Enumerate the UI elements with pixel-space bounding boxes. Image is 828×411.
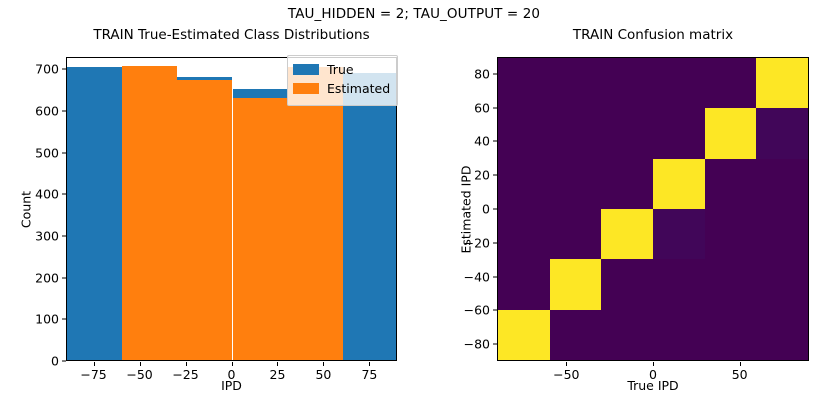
confusion-matrix-cell-r0-c4 (705, 58, 757, 108)
legend-item-true: True (293, 60, 392, 79)
confusion-matrix-y-tick-label: 60 (430, 100, 490, 115)
confusion-matrix-y-tick-mark (493, 344, 497, 345)
confusion-matrix-axes (497, 57, 809, 361)
confusion-matrix-x-tick-mark (653, 362, 654, 366)
confusion-matrix-cell-r4-c4 (705, 259, 757, 309)
confusion-matrix-y-tick-mark (493, 107, 497, 108)
histogram-x-tick-mark (232, 362, 233, 366)
confusion-matrix-y-tick-mark (493, 310, 497, 311)
confusion-matrix-cell-r1-c2 (601, 108, 653, 158)
confusion-matrix-y-tick-label: −60 (430, 303, 490, 318)
confusion-matrix-cell-r4-c5 (756, 259, 808, 309)
histogram-y-tick-label: 700 (0, 62, 59, 77)
confusion-matrix-cell-r0-c5 (756, 58, 808, 108)
confusion-matrix-cell-r2-c5 (756, 159, 808, 209)
confusion-matrix-cell-r0-c3 (653, 58, 705, 108)
confusion-matrix-cell-r2-c0 (498, 159, 550, 209)
histogram-y-tick-label: 600 (0, 104, 59, 119)
confusion-matrix-x-axis-label: True IPD (497, 378, 809, 393)
histogram-x-tick-mark (186, 362, 187, 366)
histogram-y-tick-label: 200 (0, 270, 59, 285)
histogram-y-tick-mark (62, 69, 66, 70)
legend-item-estimated: Estimated (293, 79, 392, 98)
confusion-matrix-cell-r1-c5 (756, 108, 808, 158)
confusion-matrix-cell-r5-c4 (705, 310, 757, 360)
histogram-y-tick-mark (62, 277, 66, 278)
histogram-x-axis-label: IPD (66, 378, 397, 393)
confusion-matrix-cell-r5-c1 (550, 310, 602, 360)
confusion-matrix-cell-r0-c2 (601, 58, 653, 108)
confusion-matrix-y-tick-mark (493, 276, 497, 277)
matplotlib-figure: TAU_HIDDEN = 2; TAU_OUTPUT = 20 TRAIN Tr… (0, 0, 828, 411)
legend-swatch-estimated-icon (293, 83, 319, 94)
histogram-y-axis-label: Count (19, 160, 34, 260)
histogram-bar-true-0 (67, 67, 122, 360)
confusion-matrix-cell-r3-c1 (550, 209, 602, 259)
confusion-matrix-y-tick-label: −80 (430, 337, 490, 352)
confusion-matrix-cell-r2-c2 (601, 159, 653, 209)
histogram-x-tick-mark (323, 362, 324, 366)
histogram-x-tick-mark (369, 362, 370, 366)
histogram-y-tick-mark (62, 361, 66, 362)
confusion-matrix-cell-r4-c0 (498, 259, 550, 309)
confusion-matrix-cell-r2-c1 (550, 159, 602, 209)
histogram-bar-estimated-4 (288, 67, 343, 360)
confusion-matrix-cell-r1-c0 (498, 108, 550, 158)
legend-label-true: True (327, 62, 354, 77)
histogram-y-tick-label: 0 (0, 354, 59, 369)
confusion-matrix-cell-r3-c4 (705, 209, 757, 259)
histogram-legend[interactable]: True Estimated (287, 55, 398, 106)
confusion-matrix-cell-r0-c1 (550, 58, 602, 108)
histogram-bar-estimated-2 (177, 80, 232, 360)
histogram-y-tick-mark (62, 194, 66, 195)
histogram-y-tick-mark (62, 236, 66, 237)
confusion-matrix-cell-r5-c5 (756, 310, 808, 360)
confusion-matrix-cell-r5-c3 (653, 310, 705, 360)
legend-label-estimated: Estimated (327, 81, 390, 96)
confusion-matrix-cell-r1-c4 (705, 108, 757, 158)
histogram-y-tick-label: 100 (0, 312, 59, 327)
confusion-matrix-x-tick-mark (740, 362, 741, 366)
histogram-x-tick-mark (277, 362, 278, 366)
confusion-matrix-y-tick-mark (493, 209, 497, 210)
histogram-bar-true-5 (343, 73, 397, 360)
histogram-title: TRAIN True-Estimated Class Distributions (66, 27, 397, 43)
confusion-matrix-cell-r4-c3 (653, 259, 705, 309)
histogram-bar-estimated-1 (122, 66, 177, 360)
confusion-matrix-cell-r3-c5 (756, 209, 808, 259)
confusion-matrix-y-tick-label: 80 (430, 66, 490, 81)
histogram-y-tick-mark (62, 111, 66, 112)
confusion-matrix-y-tick-mark (493, 242, 497, 243)
histogram-y-tick-mark (62, 319, 66, 320)
confusion-matrix-cell-r5-c0 (498, 310, 550, 360)
histogram-bar-estimated-3 (233, 98, 288, 360)
confusion-matrix-cell-r0-c0 (498, 58, 550, 108)
confusion-matrix-cell-r2-c3 (653, 159, 705, 209)
figure-suptitle: TAU_HIDDEN = 2; TAU_OUTPUT = 20 (0, 6, 828, 22)
confusion-matrix-cell-r2-c4 (705, 159, 757, 209)
histogram-y-tick-mark (62, 152, 66, 153)
confusion-matrix-y-tick-mark (493, 73, 497, 74)
legend-swatch-true-icon (293, 64, 319, 75)
confusion-matrix-y-tick-mark (493, 175, 497, 176)
confusion-matrix-cell-r1-c1 (550, 108, 602, 158)
confusion-matrix-grid (498, 58, 808, 360)
confusion-matrix-cell-r4-c1 (550, 259, 602, 309)
confusion-matrix-y-axis-label: Estimated IPD (459, 140, 474, 280)
confusion-matrix-cell-r3-c0 (498, 209, 550, 259)
histogram-x-tick-mark (140, 362, 141, 366)
confusion-matrix-title: TRAIN Confusion matrix (497, 27, 809, 43)
confusion-matrix-cell-r3-c2 (601, 209, 653, 259)
histogram-y-tick-label: 500 (0, 145, 59, 160)
confusion-matrix-cell-r3-c3 (653, 209, 705, 259)
confusion-matrix-cell-r1-c3 (653, 108, 705, 158)
confusion-matrix-x-tick-mark (566, 362, 567, 366)
confusion-matrix-cell-r5-c2 (601, 310, 653, 360)
confusion-matrix-cell-r4-c2 (601, 259, 653, 309)
histogram-x-tick-mark (94, 362, 95, 366)
confusion-matrix-y-tick-mark (493, 141, 497, 142)
